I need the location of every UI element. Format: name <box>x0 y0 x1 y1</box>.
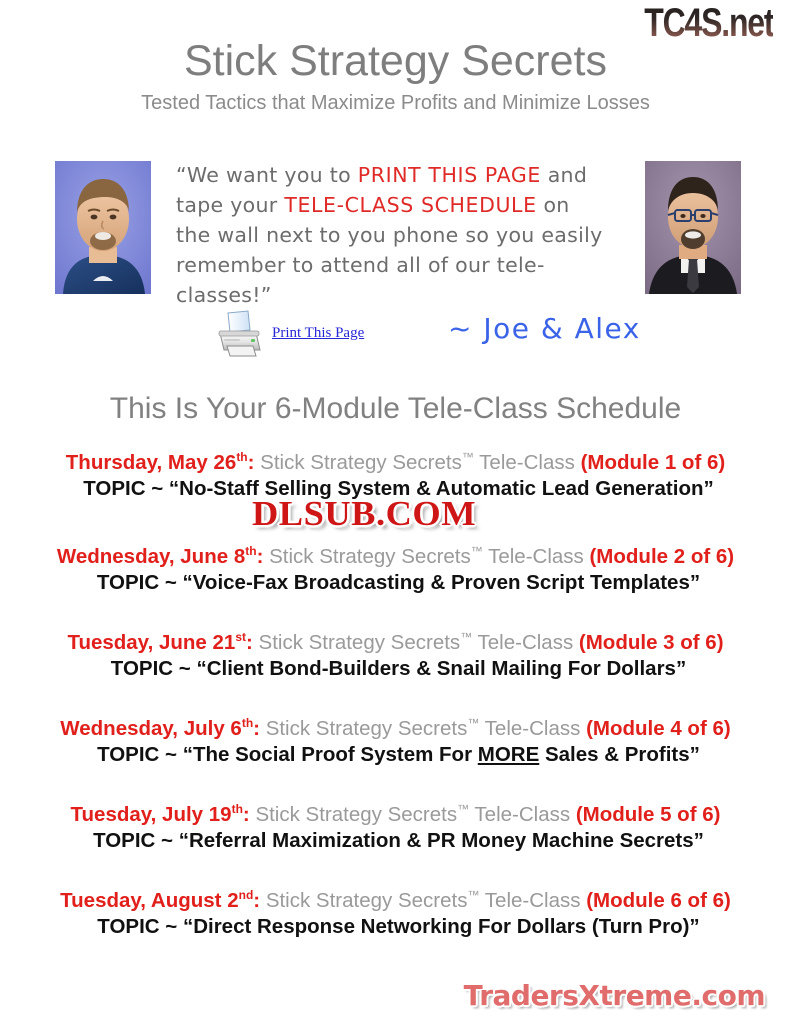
topic-prefix: TOPIC ~ <box>111 657 197 680</box>
topic-prefix: TOPIC ~ <box>83 477 169 500</box>
quote-line-4: remember to attend all of our tele-class… <box>176 250 636 310</box>
quote-line-1-post: and <box>541 163 587 187</box>
schedule-item-colon: : <box>248 451 255 474</box>
topic-text: “Client Bond-Builders & Snail Mailing Fo… <box>196 657 686 680</box>
schedule-item-ordinal: nd <box>239 888 254 902</box>
page-title: Stick Strategy Secrets <box>0 38 791 85</box>
schedule-module-badge: (Module 5 of 6) <box>576 803 721 826</box>
quote-highlight-tele-class-schedule: TELE-CLASS SCHEDULE <box>284 193 536 217</box>
schedule-item-headline: Tuesday, August 2nd: Stick Strategy Secr… <box>0 888 791 913</box>
schedule-item: Tuesday, August 2nd: Stick Strategy Secr… <box>0 888 791 940</box>
schedule-item-date: Tuesday, August 2 <box>60 889 238 912</box>
printer-icon[interactable] <box>212 308 266 358</box>
schedule-item-headline: Tuesday, July 19th: Stick Strategy Secre… <box>0 802 791 827</box>
schedule-item-date: Thursday, May 26 <box>66 451 237 474</box>
photo-joe-headshot <box>55 161 151 294</box>
schedule-item-colon: : <box>253 889 260 912</box>
schedule-class-name: Stick Strategy Secrets <box>259 631 461 654</box>
schedule-module-badge: (Module 3 of 6) <box>579 631 724 654</box>
quote-line-1-pre: “We want you to <box>176 163 358 187</box>
schedule-item-headline: Thursday, May 26th: Stick Strategy Secre… <box>0 450 791 475</box>
footer-logo-tradersxtreme: TradersXtreme.com <box>464 979 765 1012</box>
quote-line-2: tape your TELE-CLASS SCHEDULE on <box>176 190 636 220</box>
topic-prefix: TOPIC ~ <box>97 915 183 938</box>
schedule-class-name: Stick Strategy Secrets <box>260 451 462 474</box>
schedule-item-date: Wednesday, June 8 <box>57 545 245 568</box>
quote-line-1: “We want you to PRINT THIS PAGE and <box>176 160 636 190</box>
schedule-item-ordinal: th <box>236 450 247 464</box>
schedule-class-suffix: Tele-Class <box>479 889 586 912</box>
quote-highlight-print-this-page: PRINT THIS PAGE <box>358 163 541 187</box>
schedule-item-ordinal: th <box>242 716 253 730</box>
topic-text: “Referral Maximization & PR Money Machin… <box>179 829 704 852</box>
quote-line-2-pre: tape your <box>176 193 284 217</box>
schedule-item-date: Wednesday, July 6 <box>60 717 242 740</box>
page-subtitle: Tested Tactics that Maximize Profits and… <box>0 92 791 115</box>
schedule-item-headline: Tuesday, June 21st: Stick Strategy Secre… <box>0 630 791 655</box>
trademark-icon: ™ <box>471 544 483 558</box>
schedule-class-suffix: Tele-Class <box>474 451 581 474</box>
quote-block: “We want you to PRINT THIS PAGE and tape… <box>176 160 636 310</box>
schedule-item-headline: Wednesday, June 8th: Stick Strategy Secr… <box>0 544 791 569</box>
watermark-dlsub: DLSUB.COM <box>252 494 476 534</box>
schedule-class-name: Stick Strategy Secrets <box>266 889 468 912</box>
topic-text-post: Sales & Profits” <box>539 743 700 766</box>
schedule-class-name: Stick Strategy Secrets <box>269 545 471 568</box>
schedule-item-date: Tuesday, June 21 <box>67 631 235 654</box>
schedule-module-badge: (Module 4 of 6) <box>586 717 731 740</box>
schedule-item: Wednesday, July 6th: Stick Strategy Secr… <box>0 716 791 768</box>
schedule-item-topic: TOPIC ~ “Referral Maximization & PR Mone… <box>0 827 791 854</box>
alex-portrait-graphic <box>645 161 741 294</box>
schedule-item: Wednesday, June 8th: Stick Strategy Secr… <box>0 544 791 596</box>
schedule-item-ordinal: th <box>232 802 243 816</box>
schedule-class-name: Stick Strategy Secrets <box>255 803 457 826</box>
trademark-icon: ™ <box>460 630 472 644</box>
schedule-item-topic: TOPIC ~ “Voice-Fax Broadcasting & Proven… <box>0 569 791 596</box>
quote-line-3: the wall next to you phone so you easily <box>176 220 636 250</box>
schedule-item: Tuesday, July 19th: Stick Strategy Secre… <box>0 802 791 854</box>
schedule-module-badge: (Module 1 of 6) <box>581 451 726 474</box>
topic-text: “Direct Response Networking For Dollars … <box>183 915 700 938</box>
topic-prefix: TOPIC ~ <box>93 829 179 852</box>
print-this-page-control[interactable]: Print This Page <box>212 308 364 358</box>
schedule-item-colon: : <box>257 545 264 568</box>
topic-text-pre: “The Social Proof System For <box>183 743 478 766</box>
schedule-item-colon: : <box>243 803 250 826</box>
schedule-item-topic: TOPIC ~ “Direct Response Networking For … <box>0 913 791 940</box>
schedule-item-ordinal: st <box>235 630 246 644</box>
schedule-item-topic: TOPIC ~ “Client Bond-Builders & Snail Ma… <box>0 655 791 682</box>
trademark-icon: ™ <box>467 716 479 730</box>
schedule-item-colon: : <box>253 717 260 740</box>
trademark-icon: ™ <box>467 888 479 902</box>
schedule-module-badge: (Module 2 of 6) <box>589 545 734 568</box>
print-this-page-link[interactable]: Print This Page <box>272 325 364 342</box>
photo-alex-headshot <box>645 161 741 294</box>
joe-portrait-graphic <box>55 161 151 294</box>
schedule-item-colon: : <box>246 631 253 654</box>
schedule-class-suffix: Tele-Class <box>469 803 576 826</box>
schedule-class-suffix: Tele-Class <box>472 631 579 654</box>
trademark-icon: ™ <box>457 802 469 816</box>
schedule-heading: This Is Your 6-Module Tele-Class Schedul… <box>0 392 791 426</box>
topic-emphasis-more: MORE <box>478 743 540 766</box>
schedule-item-date: Tuesday, July 19 <box>71 803 232 826</box>
topic-prefix: TOPIC ~ <box>97 571 183 594</box>
trademark-icon: ™ <box>462 450 474 464</box>
schedule-class-name: Stick Strategy Secrets <box>266 717 468 740</box>
schedule-item: Tuesday, June 21st: Stick Strategy Secre… <box>0 630 791 682</box>
schedule-item-headline: Wednesday, July 6th: Stick Strategy Secr… <box>0 716 791 741</box>
topic-text: “Voice-Fax Broadcasting & Proven Script … <box>183 571 701 594</box>
schedule-module-badge: (Module 6 of 6) <box>586 889 731 912</box>
quote-line-2-post: on <box>537 193 570 217</box>
topic-prefix: TOPIC ~ <box>97 743 183 766</box>
schedule-class-suffix: Tele-Class <box>483 545 590 568</box>
signature-joe-and-alex: ~ Joe & Alex <box>448 312 641 345</box>
schedule-item-ordinal: th <box>245 544 256 558</box>
schedule-class-suffix: Tele-Class <box>479 717 586 740</box>
schedule-item-topic: TOPIC ~ “The Social Proof System For MOR… <box>0 741 791 768</box>
